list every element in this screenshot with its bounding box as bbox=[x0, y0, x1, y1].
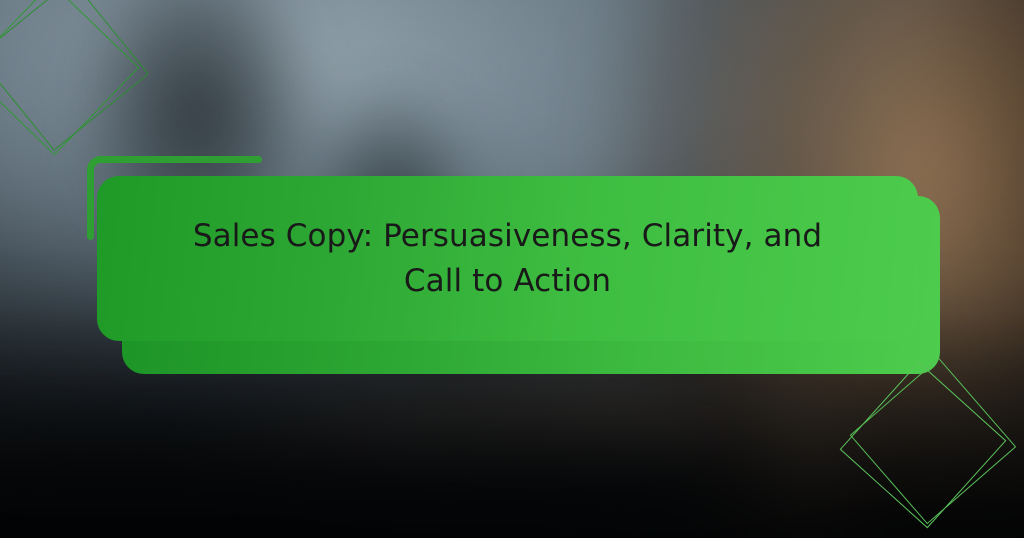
rotated-square-outline bbox=[0, 0, 139, 155]
rotated-squares-icon-bottom-right bbox=[846, 382, 1024, 538]
slide-canvas: Sales Copy: Persuasiveness, Clarity, and… bbox=[0, 0, 1024, 538]
bracket-corner-stroke bbox=[87, 156, 109, 178]
rotated-square-outline bbox=[850, 358, 1016, 524]
bracket-horizontal-stroke bbox=[96, 156, 262, 163]
slide-title-line-2: to Action bbox=[472, 263, 611, 299]
title-card: Sales Copy: Persuasiveness, Clarity, and… bbox=[97, 176, 918, 341]
rotated-square-outline bbox=[840, 362, 1007, 529]
rotated-square-outline bbox=[0, 0, 149, 151]
slide-title: Sales Copy: Persuasiveness, Clarity, and… bbox=[168, 214, 848, 304]
rotated-squares-icon-top-left bbox=[0, 2, 188, 202]
bracket-vertical-stroke bbox=[87, 166, 94, 240]
